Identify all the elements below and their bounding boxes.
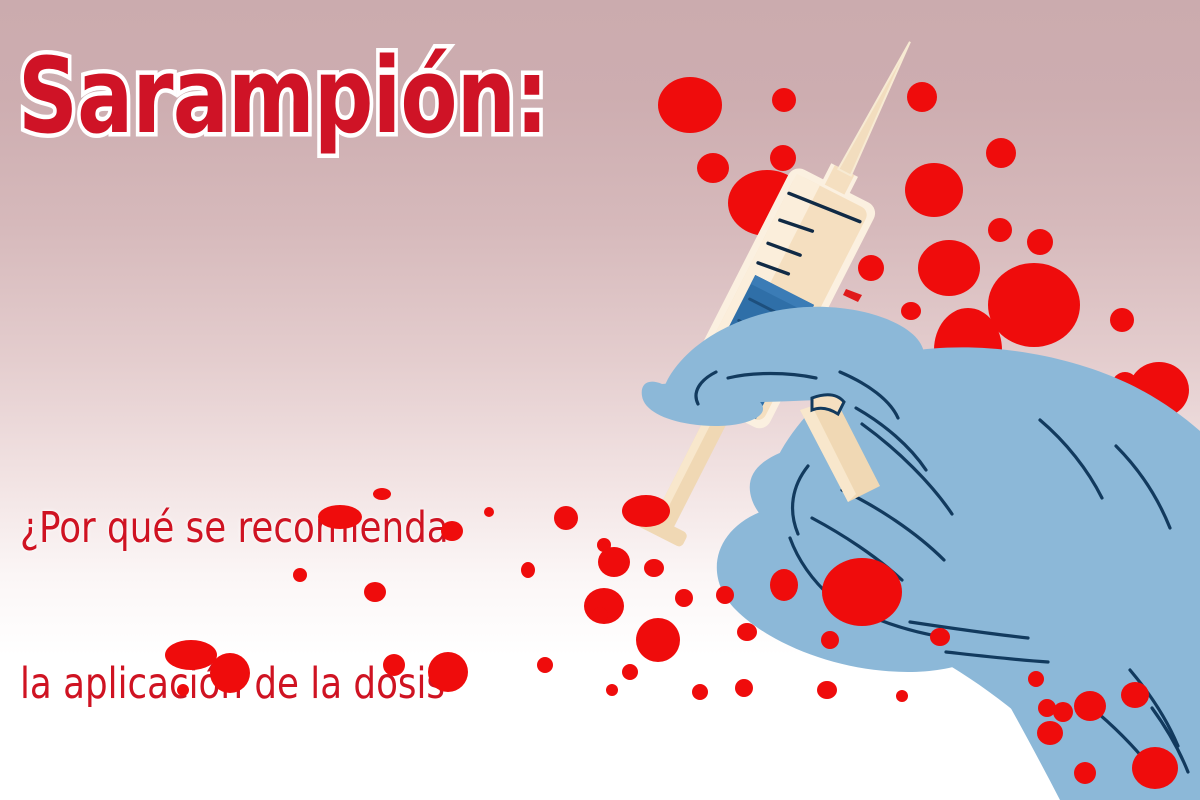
poster-title-block: Sarampión: [18,44,680,148]
subtitle-line-1: ¿Por qué se recomienda [20,502,491,554]
poster-canvas: Sarampión: ¿Por qué se recomienda la apl… [0,0,1200,800]
page-title: Sarampión: [18,44,548,148]
poster-subtitle-block: ¿Por qué se recomienda la aplicación de … [20,398,491,800]
subtitle-line-2: la aplicación de la dosis [20,658,491,710]
gloved-hand-icon [642,307,1200,800]
